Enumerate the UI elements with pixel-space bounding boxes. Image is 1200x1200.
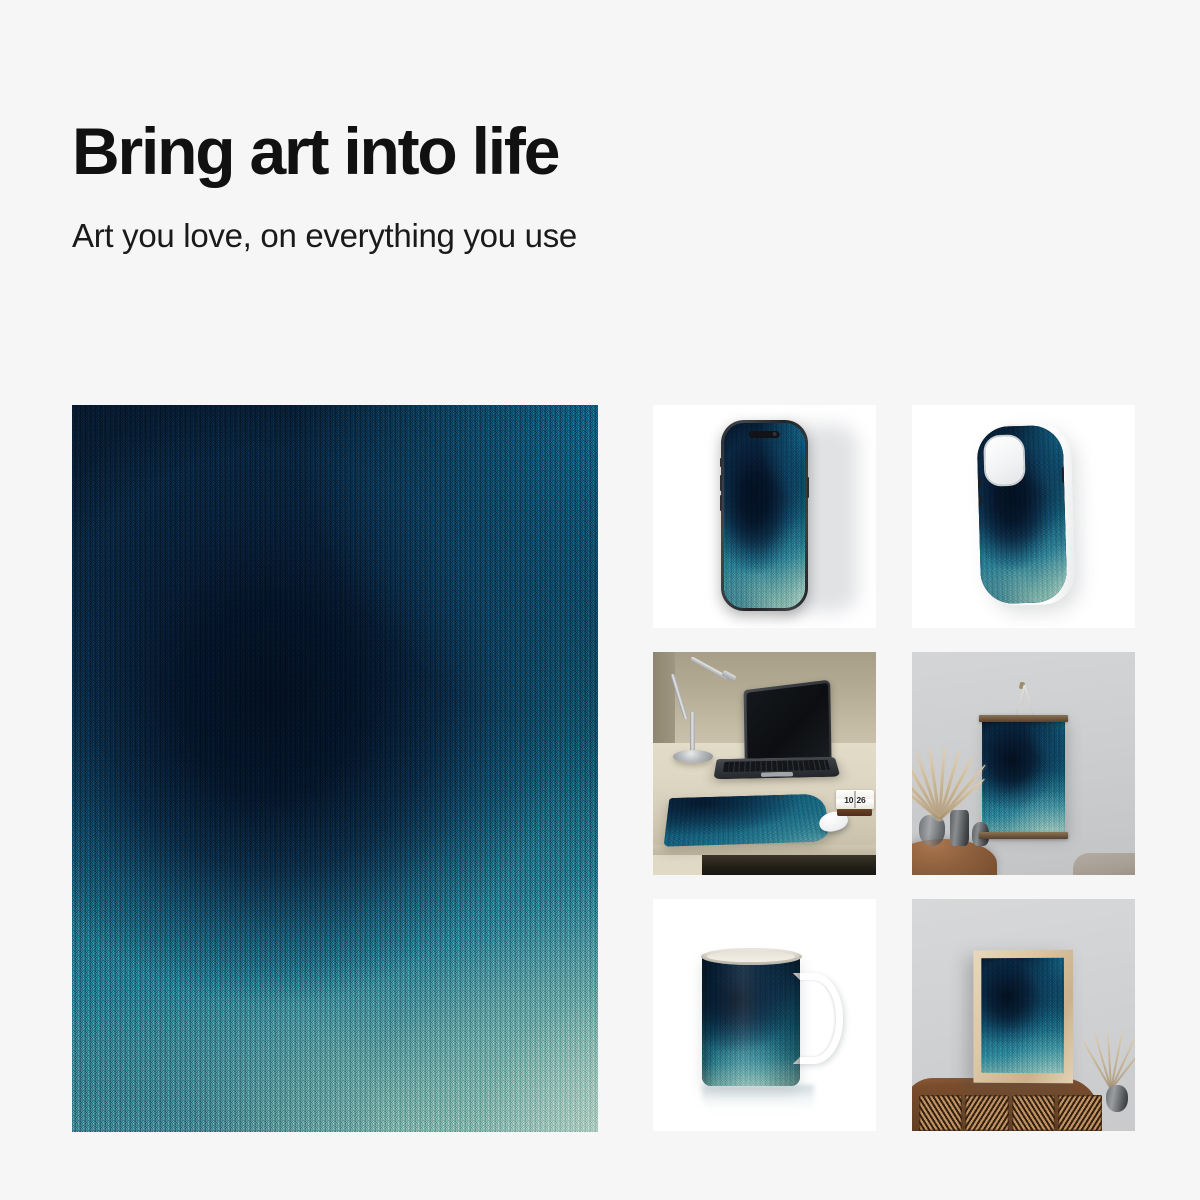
artwork-gradient — [982, 718, 1065, 834]
phone-volume-down-button — [720, 495, 722, 511]
mug-cylinder-shading — [702, 955, 800, 1086]
cane-door-panel — [965, 1095, 1009, 1131]
dried-pampas-grass — [1088, 1029, 1133, 1089]
phone-power-button — [807, 477, 809, 498]
artwork-gradient — [724, 423, 805, 609]
mug-handle — [793, 973, 842, 1063]
hanging-poster-mockup[interactable] — [912, 652, 1135, 875]
flip-calendar-stand — [837, 809, 872, 817]
cane-door-panel — [1012, 1095, 1056, 1131]
ceramic-vase — [1106, 1085, 1128, 1113]
mug-rim — [701, 948, 802, 966]
laptop-base — [713, 757, 840, 780]
mug-body — [702, 955, 800, 1086]
sideboard-cane-doors — [919, 1095, 1102, 1131]
mug-reflection — [702, 1085, 814, 1113]
picture-frame — [974, 950, 1074, 1084]
dried-pampas-grass — [912, 748, 974, 819]
sofa — [1073, 853, 1135, 875]
phone-case-mockup[interactable] — [912, 405, 1135, 628]
flip-calendar: 10 26 — [836, 790, 874, 816]
desk-underside-panel — [653, 855, 702, 875]
calendar-month-value: 10 — [844, 795, 853, 805]
glass-vase — [919, 815, 946, 846]
desk-mat — [664, 794, 833, 847]
desk-wall-side — [653, 652, 675, 757]
hanging-poster — [982, 718, 1065, 834]
living-room-scene — [912, 652, 1135, 875]
header: Bring art into life Art you love, on eve… — [72, 118, 972, 254]
dynamic-island-icon — [749, 431, 780, 439]
artwork-gradient — [664, 794, 833, 847]
gallery: 10 26 — [72, 405, 1135, 1132]
calendar-day-value: 26 — [857, 795, 866, 805]
phone-wallpaper-mockup[interactable] — [653, 405, 876, 628]
phone-volume-up-button — [720, 475, 722, 491]
camera-cutout-icon — [984, 436, 1024, 485]
artwork-gradient — [72, 405, 598, 1132]
page-title: Bring art into life — [72, 118, 972, 184]
framed-artwork — [982, 958, 1065, 1074]
case-volume-up-button — [977, 476, 981, 488]
laptop-keyboard — [723, 760, 830, 772]
poster-top-rail — [979, 715, 1068, 722]
product-showcase-page: Bring art into life Art you love, on eve… — [0, 0, 1200, 1200]
framed-print-mockup[interactable] — [912, 899, 1135, 1131]
phone-body — [721, 420, 808, 612]
phone-case-group — [912, 405, 1135, 628]
flip-calendar-display: 10 26 — [836, 790, 874, 809]
desk-lamp-stem — [690, 712, 695, 754]
hero-artwork[interactable] — [72, 405, 598, 1132]
case-volume-down-button — [977, 494, 981, 506]
phone-mute-button — [720, 458, 722, 467]
desk-scene: 10 26 — [653, 652, 876, 875]
calendar-divider — [854, 791, 855, 808]
phone-screen — [724, 423, 805, 609]
desk-mat-mockup[interactable]: 10 26 — [653, 652, 876, 875]
mug-mockup[interactable] — [653, 899, 876, 1131]
page-subtitle: Art you love, on everything you use — [72, 218, 972, 254]
poster-bottom-rail — [979, 832, 1068, 839]
artwork-gradient — [982, 958, 1065, 1074]
phone-case-body — [977, 424, 1068, 603]
cane-door-panel — [919, 1095, 963, 1131]
cane-door-panel — [1058, 1095, 1102, 1131]
desk-lamp-base — [673, 750, 713, 762]
mockup-grid: 10 26 — [653, 405, 1135, 1132]
laptop-trackpad — [760, 772, 793, 777]
